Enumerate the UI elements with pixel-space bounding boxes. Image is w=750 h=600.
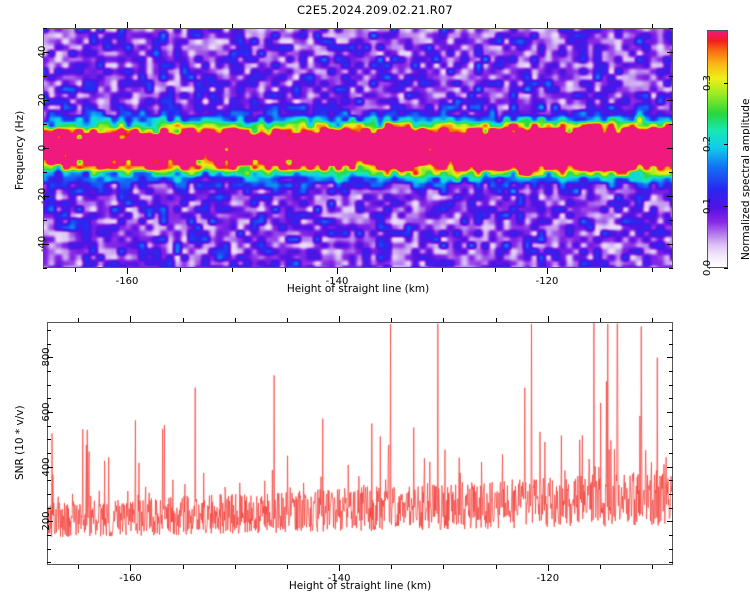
figure-root: C2E5.2024.209.02.21.R07 -160-140-1204020… xyxy=(0,0,750,600)
spectrogram-yticklabel: -20 xyxy=(37,188,48,204)
spectrogram-xticklabel: -120 xyxy=(536,276,559,287)
spectrogram-yticklabel: 0 xyxy=(37,145,48,151)
spectrogram-yticklabel: -40 xyxy=(37,236,48,252)
snr-trace xyxy=(48,323,672,564)
colorbar-title: Normalized spectral amplitude xyxy=(740,99,750,260)
colorbar-ticklabel: 0.0 xyxy=(702,260,713,276)
colorbar-ticklabel: 0.2 xyxy=(702,136,713,152)
snr-yticklabel: 200 xyxy=(41,512,52,531)
spectrogram-yticklabel: 20 xyxy=(37,94,48,107)
snr-xticklabel: -160 xyxy=(119,573,142,584)
spectrogram-xticklabel: -160 xyxy=(116,276,139,287)
snr-ylabel: SNR (10 * v/v) xyxy=(14,405,26,480)
snr-xlabel: Height of straight line (km) xyxy=(289,580,431,592)
spectrogram-axes xyxy=(43,28,673,268)
spectrogram-yticklabel: 40 xyxy=(37,46,48,59)
snr-yticklabel: 600 xyxy=(41,403,52,422)
spectrogram-ylabel: Frequency (Hz) xyxy=(14,111,26,190)
snr-xticklabel: -120 xyxy=(536,573,559,584)
figure-title: C2E5.2024.209.02.21.R07 xyxy=(0,3,750,17)
colorbar-ticklabel: 0.3 xyxy=(702,75,713,91)
snr-yticklabel: 800 xyxy=(41,348,52,367)
spectrogram-image xyxy=(44,29,672,267)
snr-axes xyxy=(47,322,673,565)
spectrogram-xlabel: Height of straight line (km) xyxy=(287,283,429,295)
colorbar-ticklabel: 0.1 xyxy=(702,198,713,214)
snr-yticklabel: 400 xyxy=(41,457,52,476)
